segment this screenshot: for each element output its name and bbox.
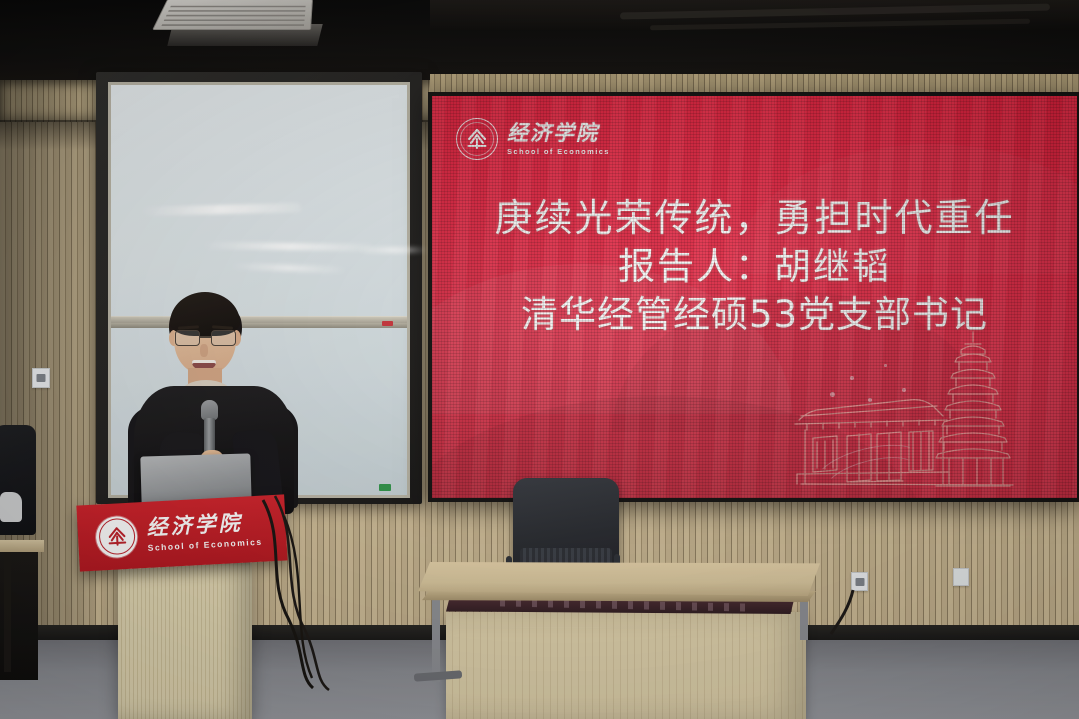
podium-sign-en: School of Economics xyxy=(148,537,263,552)
nose xyxy=(200,344,208,357)
red-marker[interactable] xyxy=(382,321,393,326)
side-chair-cloth xyxy=(0,492,22,522)
floor-cable xyxy=(282,512,442,692)
podium-sign-cn: 经济学院 xyxy=(146,511,262,538)
desk-front-panel xyxy=(446,612,806,719)
air-conditioner-icon xyxy=(152,0,313,30)
podium xyxy=(118,562,252,719)
whiteboard-glare xyxy=(359,247,429,253)
pku-seal-icon xyxy=(456,118,498,160)
screen-headline-line2: 报告人：胡继韬 xyxy=(432,243,1077,291)
side-table-top xyxy=(0,540,44,552)
screen-headline-block: 庚续光荣传统，勇担时代重任 报告人：胡继韬 清华经管经硕53党支部书记 xyxy=(432,194,1077,340)
screen-logo-en: School of Economics xyxy=(507,148,610,156)
led-presentation-screen[interactable]: 经济学院 School of Economics 庚续光荣传统，勇担时代重任 报… xyxy=(432,96,1077,498)
green-marker[interactable] xyxy=(379,484,391,491)
boya-pagoda-icon xyxy=(777,328,1067,498)
screen-headline-line1: 庚续光荣传统，勇担时代重任 xyxy=(432,194,1077,243)
whiteboard-glare xyxy=(141,203,301,216)
lecture-hall-photo: 经济学院 School of Economics 庚续光荣传统，勇担时代重任 报… xyxy=(0,0,1079,719)
screen-logo-lockup: 经济学院 School of Economics xyxy=(456,118,610,160)
instructor-desk[interactable] xyxy=(418,562,820,596)
wall-outlet-left[interactable] xyxy=(32,368,50,388)
whiteboard-glare xyxy=(203,242,373,251)
side-table-leg xyxy=(4,552,11,672)
whiteboard-glare xyxy=(231,263,346,273)
pku-seal-icon xyxy=(95,515,138,558)
outlet-cable xyxy=(847,588,917,648)
microphone-icon[interactable] xyxy=(201,400,218,420)
wall-plate-blank xyxy=(953,568,969,586)
screen-logo-cn: 经济学院 xyxy=(507,123,610,144)
desk-leg xyxy=(800,600,808,640)
